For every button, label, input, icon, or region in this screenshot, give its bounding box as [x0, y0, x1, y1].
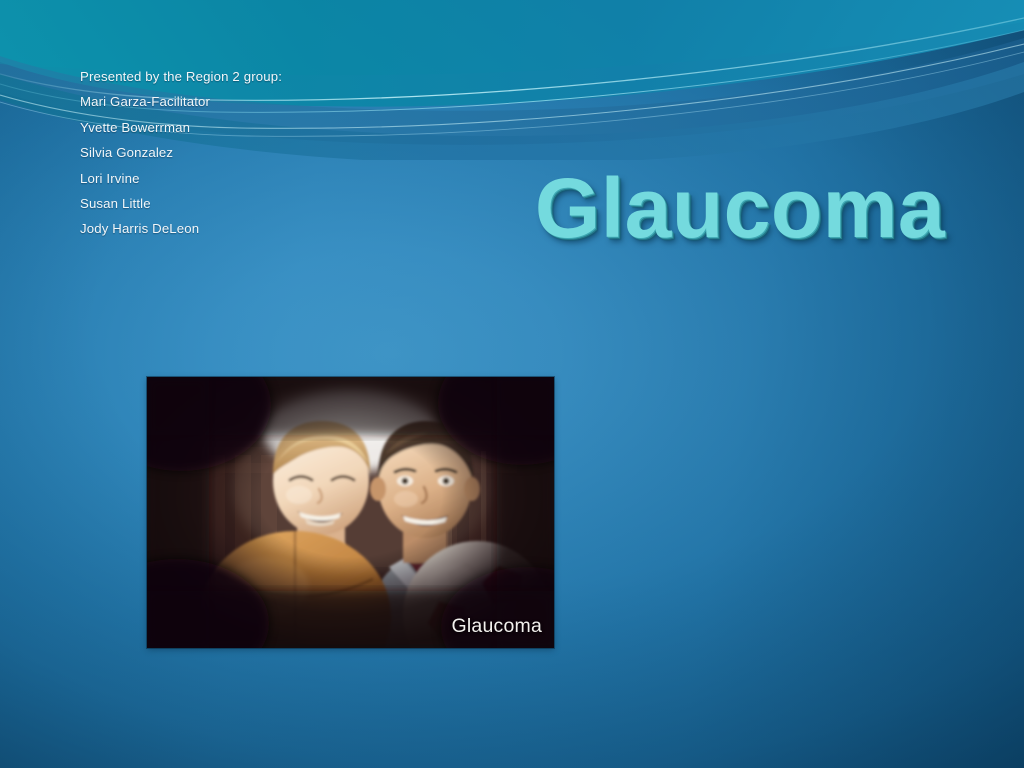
presenter-name: Susan Little — [80, 191, 500, 216]
presenter-name: Lori Irvine — [80, 166, 500, 191]
presenter-name: Yvette Bowerrman — [80, 115, 500, 140]
glaucoma-simulation-photo[interactable]: Glaucoma — [147, 377, 554, 648]
photo-artwork — [147, 377, 554, 648]
slide-title-placeholder[interactable]: Glaucoma — [480, 166, 1000, 250]
presenters-text-block[interactable]: Presented by the Region 2 group: Mari Ga… — [80, 64, 500, 242]
presenter-name: Mari Garza-Facilitator — [80, 89, 500, 114]
presenter-name: Jody Harris DeLeon — [80, 216, 500, 241]
presenter-name: Silvia Gonzalez — [80, 140, 500, 165]
presenters-heading: Presented by the Region 2 group: — [80, 64, 500, 89]
presentation-slide: Presented by the Region 2 group: Mari Ga… — [0, 0, 1024, 768]
page-title: Glaucoma — [535, 166, 945, 250]
